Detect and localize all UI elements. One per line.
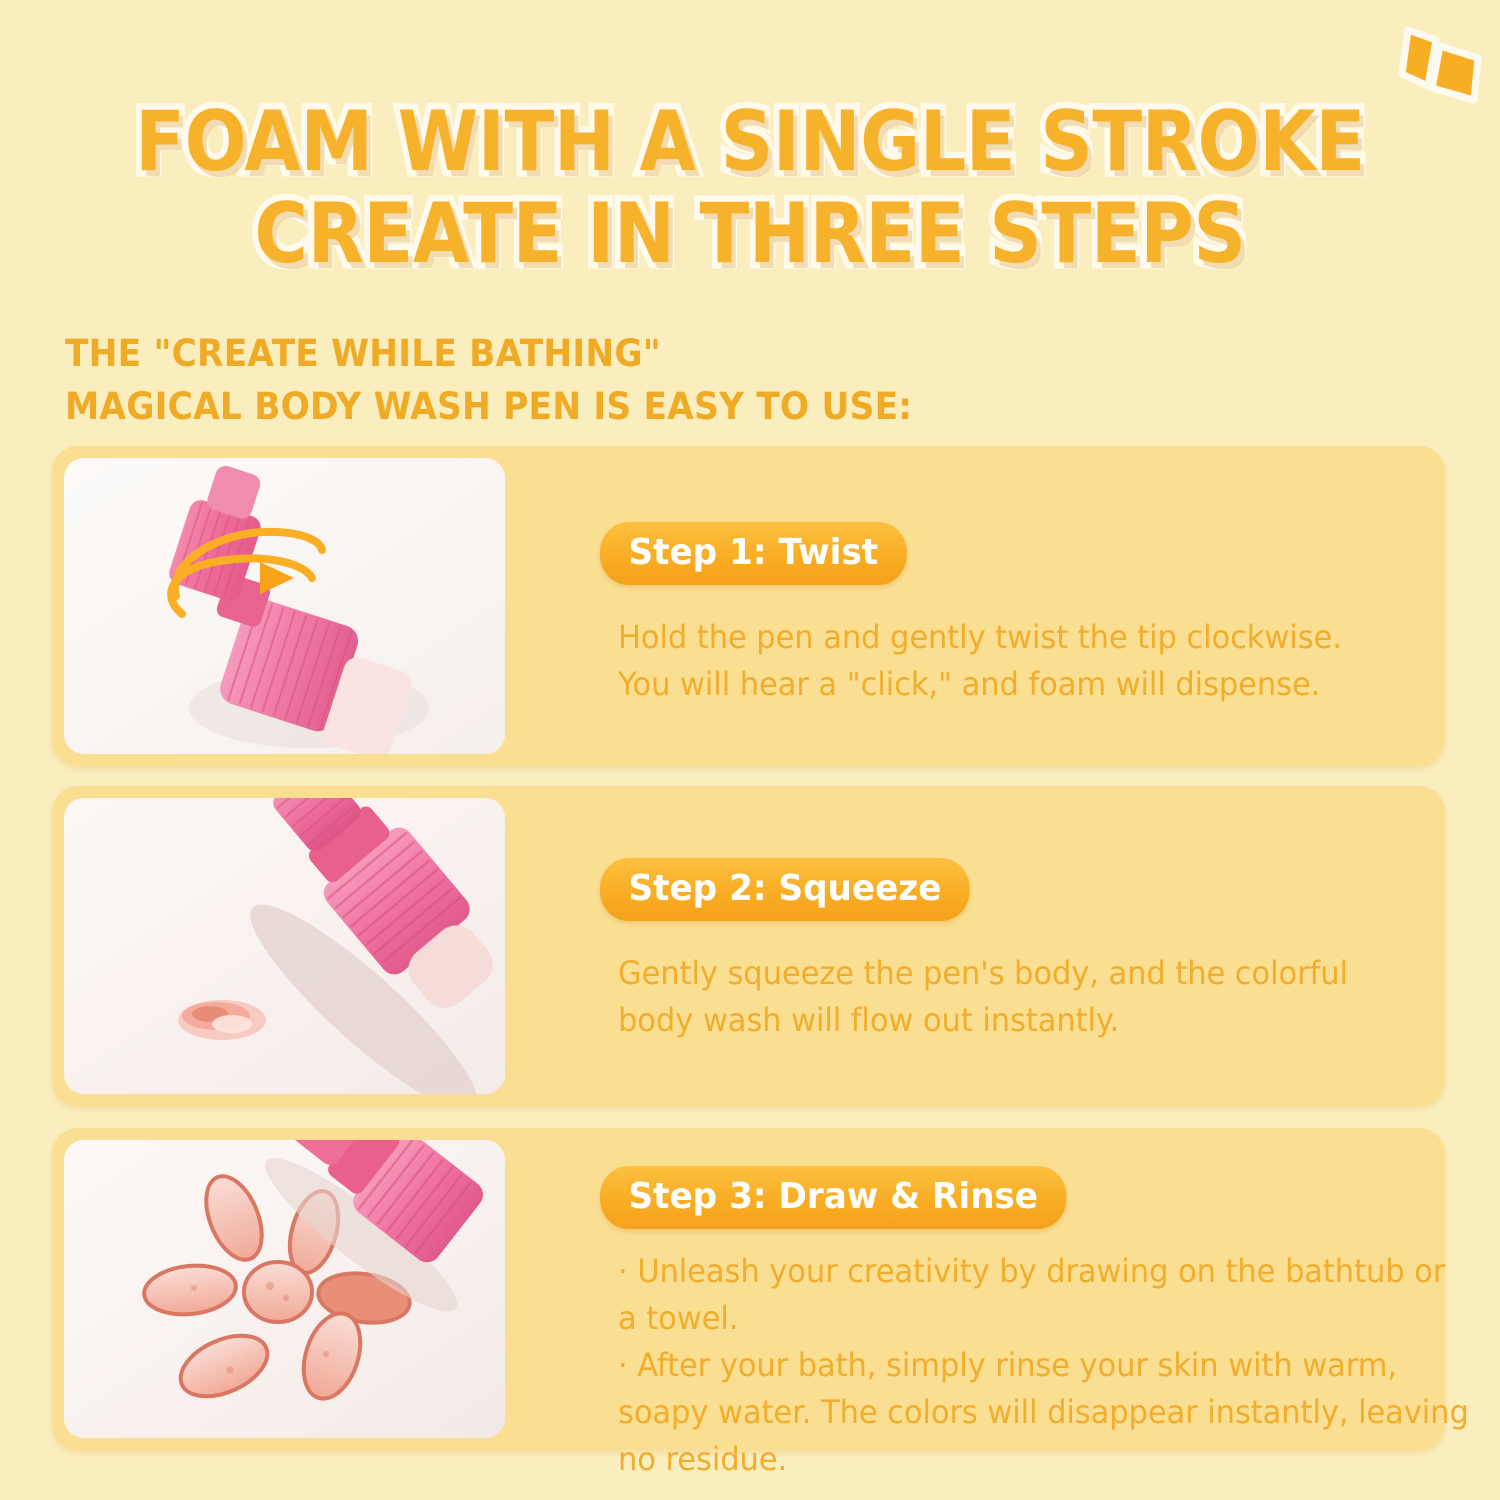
step-3-line-2: a towel. xyxy=(618,1295,1500,1342)
step-panel-2: Step 2: Squeeze Gently squeeze the pen's… xyxy=(52,786,1445,1106)
step-3-line-1: · Unleash your creativity by drawing on … xyxy=(618,1248,1500,1295)
step-1-badge[interactable]: Step 1: Twist xyxy=(600,522,907,585)
step-panel-3: Step 3: Draw & Rinse · Unleash your crea… xyxy=(52,1128,1445,1450)
page-title-line-2: CREATE IN THREE STEPS xyxy=(90,188,1410,280)
page-title: FOAM WITH A SINGLE STROKE CREATE IN THRE… xyxy=(0,96,1500,280)
step-3-photo xyxy=(64,1140,505,1438)
step-3-line-3: · After your bath, simply rinse your ski… xyxy=(618,1342,1500,1389)
step-3-body: Step 3: Draw & Rinse · Unleash your crea… xyxy=(544,1128,1421,1450)
step-2-body: Step 2: Squeeze Gently squeeze the pen's… xyxy=(544,786,1421,1106)
step-panel-1: Step 1: Twist Hold the pen and gently tw… xyxy=(52,446,1445,766)
step-1-line-2: You will hear a "click," and foam will d… xyxy=(618,661,1385,708)
step-2-badge[interactable]: Step 2: Squeeze xyxy=(600,858,970,921)
page-subtitle-line-1: THE "CREATE WHILE BATHING" xyxy=(65,327,1274,380)
page-title-line-1: FOAM WITH A SINGLE STROKE xyxy=(90,96,1410,188)
step-3-line-4: soapy water. The colors will disappear i… xyxy=(618,1389,1500,1436)
step-2-line-1: Gently squeeze the pen's body, and the c… xyxy=(618,950,1385,997)
step-1-description: Hold the pen and gently twist the tip cl… xyxy=(618,614,1385,708)
step-2-photo xyxy=(64,798,505,1094)
step-3-description: · Unleash your creativity by drawing on … xyxy=(618,1248,1500,1483)
step-2-line-2: body wash will flow out instantly. xyxy=(618,997,1385,1044)
page-subtitle-line-2: MAGICAL BODY WASH PEN IS EASY TO USE: xyxy=(65,380,1274,433)
step-2-description: Gently squeeze the pen's body, and the c… xyxy=(618,950,1385,1044)
page-subtitle: THE "CREATE WHILE BATHING" MAGICAL BODY … xyxy=(65,327,1274,433)
step-1-line-1: Hold the pen and gently twist the tip cl… xyxy=(618,614,1385,661)
step-1-body: Step 1: Twist Hold the pen and gently tw… xyxy=(544,446,1421,766)
step-1-photo xyxy=(64,458,505,754)
step-3-badge[interactable]: Step 3: Draw & Rinse xyxy=(600,1166,1066,1229)
step-3-line-5: no residue. xyxy=(618,1436,1500,1483)
